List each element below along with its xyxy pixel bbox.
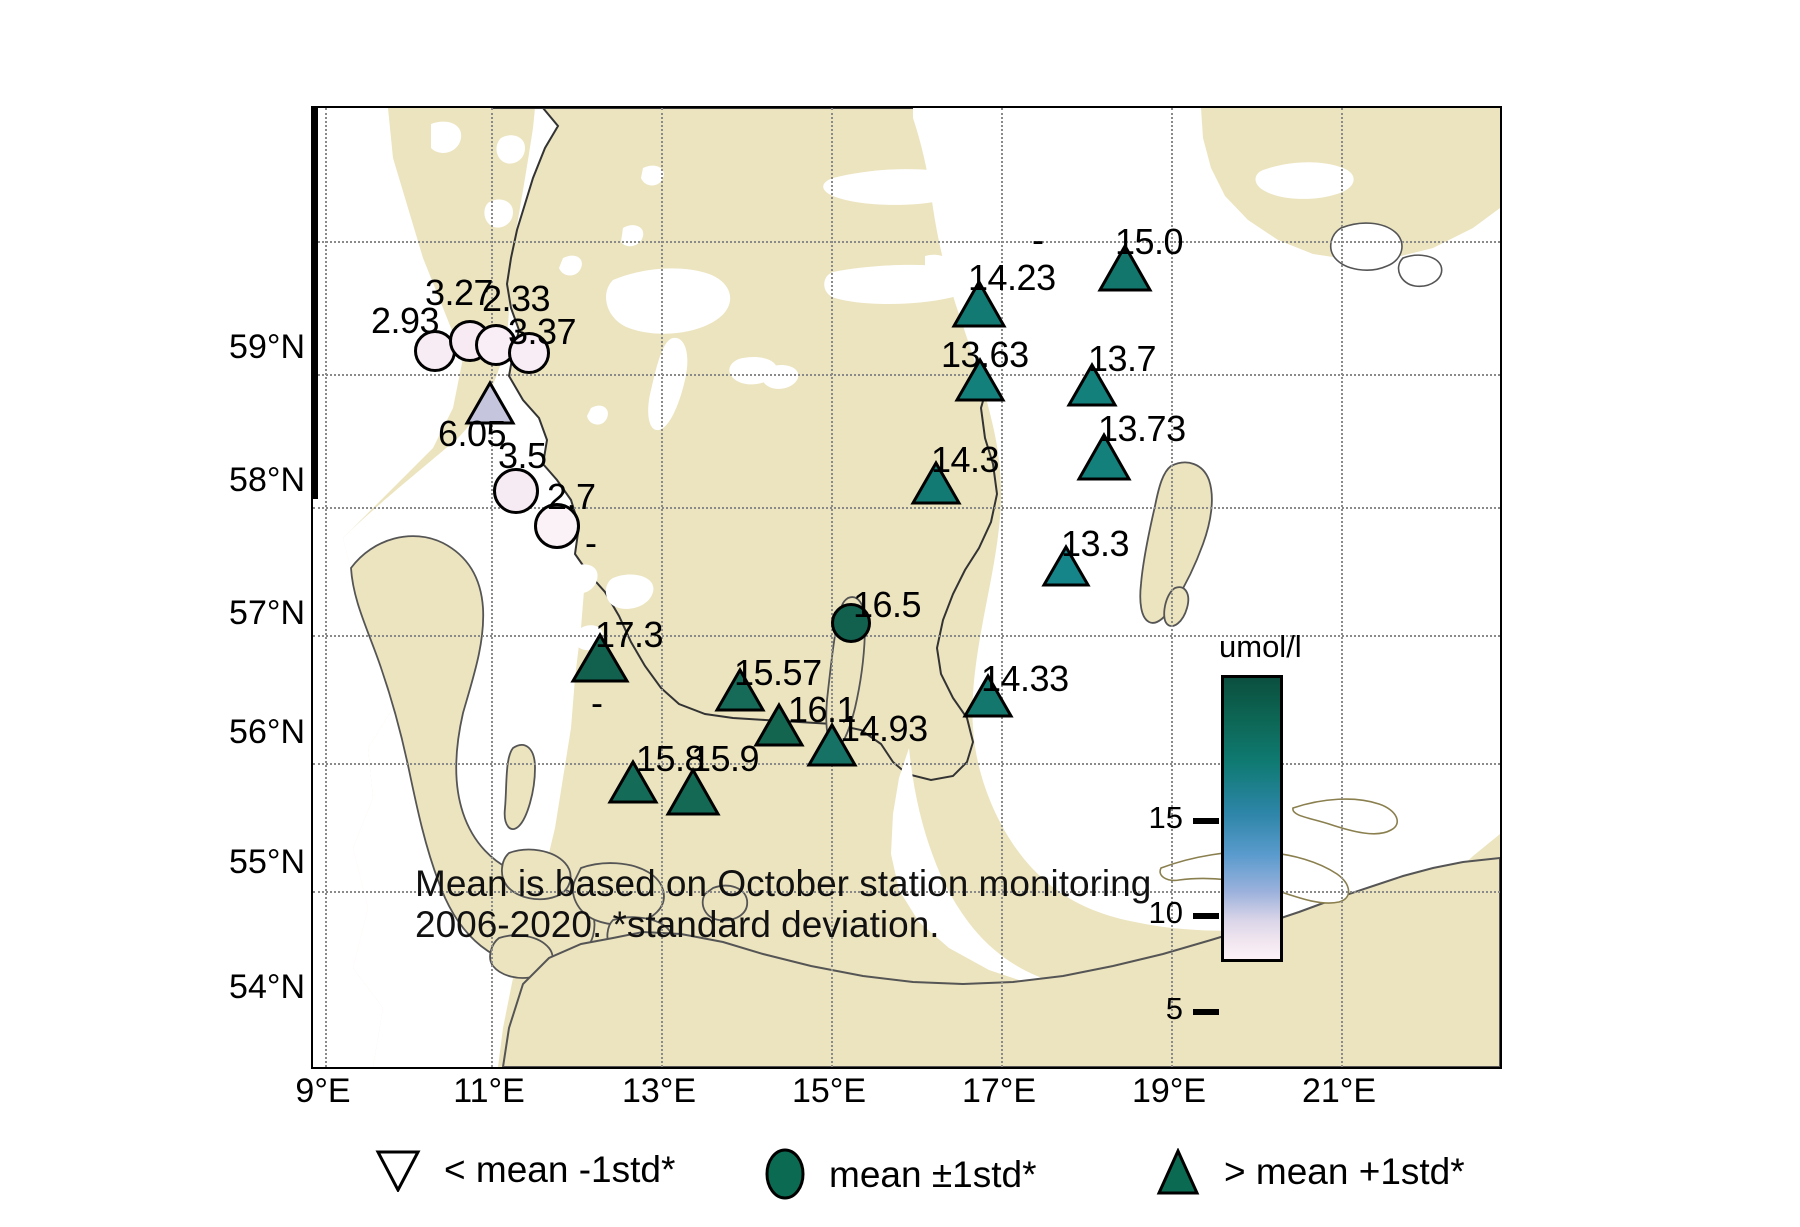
station-label-13-73: 13.73: [1098, 408, 1186, 450]
colorbar-label-5: 5: [1123, 991, 1183, 1027]
xtick-21e: 21°E: [1302, 1072, 1376, 1111]
xtick-9e: 9°E: [295, 1072, 350, 1111]
station-label-15-0: 15.0: [1115, 221, 1183, 263]
station-label-15-57: 15.57: [734, 652, 822, 694]
station-label-14-3: 14.3: [931, 439, 999, 481]
gridline-9e: [325, 108, 327, 1067]
station-label-3-37: 3.37: [508, 311, 576, 353]
map-left-border: [311, 108, 318, 499]
station-label-6-05: 6.05: [438, 413, 506, 455]
ytick-56: 56°N: [15, 713, 305, 752]
ytick-58: 58°N: [15, 461, 305, 500]
station-label-13-63: 13.63: [941, 334, 1029, 376]
legend-label-above: > mean +1std*: [1224, 1151, 1465, 1193]
ytick-59: 59°N: [15, 328, 305, 367]
nodata-dash-1: -: [585, 522, 597, 564]
station-label-13-3: 13.3: [1061, 523, 1129, 565]
gridline-55n: [313, 763, 1500, 765]
legend-item-within[interactable]: mean ±1std*: [763, 1148, 1036, 1202]
legend-label-within: mean ±1std*: [829, 1154, 1036, 1196]
gridline-58n: [313, 374, 1500, 376]
down-triangle-open-icon: [374, 1148, 422, 1192]
latitude-axis: 59°N 58°N 57°N 56°N 55°N 54°N: [0, 106, 305, 1069]
xtick-15e: 15°E: [792, 1072, 866, 1111]
ytick-55: 55°N: [15, 843, 305, 882]
longitude-axis: 9°E 11°E 13°E 15°E 17°E 19°E 21°E: [311, 1072, 1502, 1132]
xtick-13e: 13°E: [622, 1072, 696, 1111]
map-figure: 59°N 58°N 57°N 56°N 55°N 54°N 9°E 11°E 1…: [0, 0, 1800, 1227]
map-caption: Mean is based on October station monitor…: [415, 863, 1151, 946]
legend-label-below: < mean -1std*: [444, 1149, 675, 1191]
figure-legend: < mean -1std* mean ±1std* > mean +1std*: [0, 1148, 1800, 1218]
ytick-57: 57°N: [15, 594, 305, 633]
xtick-19e: 19°E: [1132, 1072, 1206, 1111]
station-label-14-33: 14.33: [981, 658, 1069, 700]
legend-item-below[interactable]: < mean -1std*: [374, 1148, 675, 1192]
station-label-3-5: 3.5: [498, 435, 547, 477]
station-label-13-7: 13.7: [1088, 338, 1156, 380]
station-label-17-3: 17.3: [595, 614, 663, 656]
legend-item-above[interactable]: > mean +1std*: [1154, 1148, 1465, 1196]
colorbar-tick-10: [1193, 913, 1219, 919]
station-label-16-5: 16.5: [853, 584, 921, 626]
colorbar-tick-15: [1193, 818, 1219, 824]
gridline-59n: [313, 241, 1500, 243]
circle-filled-icon: [763, 1148, 807, 1202]
nodata-dash-2: -: [591, 682, 603, 724]
up-triangle-filled-icon: [1154, 1148, 1202, 1196]
colorbar-tick-5: [1193, 1009, 1219, 1015]
colorbar-title: umol/l: [1219, 629, 1302, 665]
station-label-15-9: 15.9: [691, 738, 759, 780]
gridline-57n: [313, 507, 1500, 509]
ytick-54: 54°N: [15, 968, 305, 1007]
gridline-56n: [313, 635, 1500, 637]
colorbar-gradient[interactable]: [1221, 675, 1283, 962]
colorbar-label-15: 15: [1123, 800, 1183, 836]
map-canvas[interactable]: 2.93 3.27 2.33 3.37 6.05 3.5 2.7 - - - 1…: [311, 106, 1502, 1069]
station-label-14-93: 14.93: [840, 708, 928, 750]
nodata-dash-3: -: [1032, 219, 1044, 261]
station-label-14-23: 14.23: [968, 257, 1056, 299]
xtick-11e: 11°E: [453, 1072, 525, 1111]
xtick-17e: 17°E: [962, 1072, 1036, 1111]
gridline-21e: [1341, 108, 1343, 1067]
colorbar-label-10: 10: [1123, 895, 1183, 931]
station-label-2-7: 2.7: [547, 476, 596, 518]
